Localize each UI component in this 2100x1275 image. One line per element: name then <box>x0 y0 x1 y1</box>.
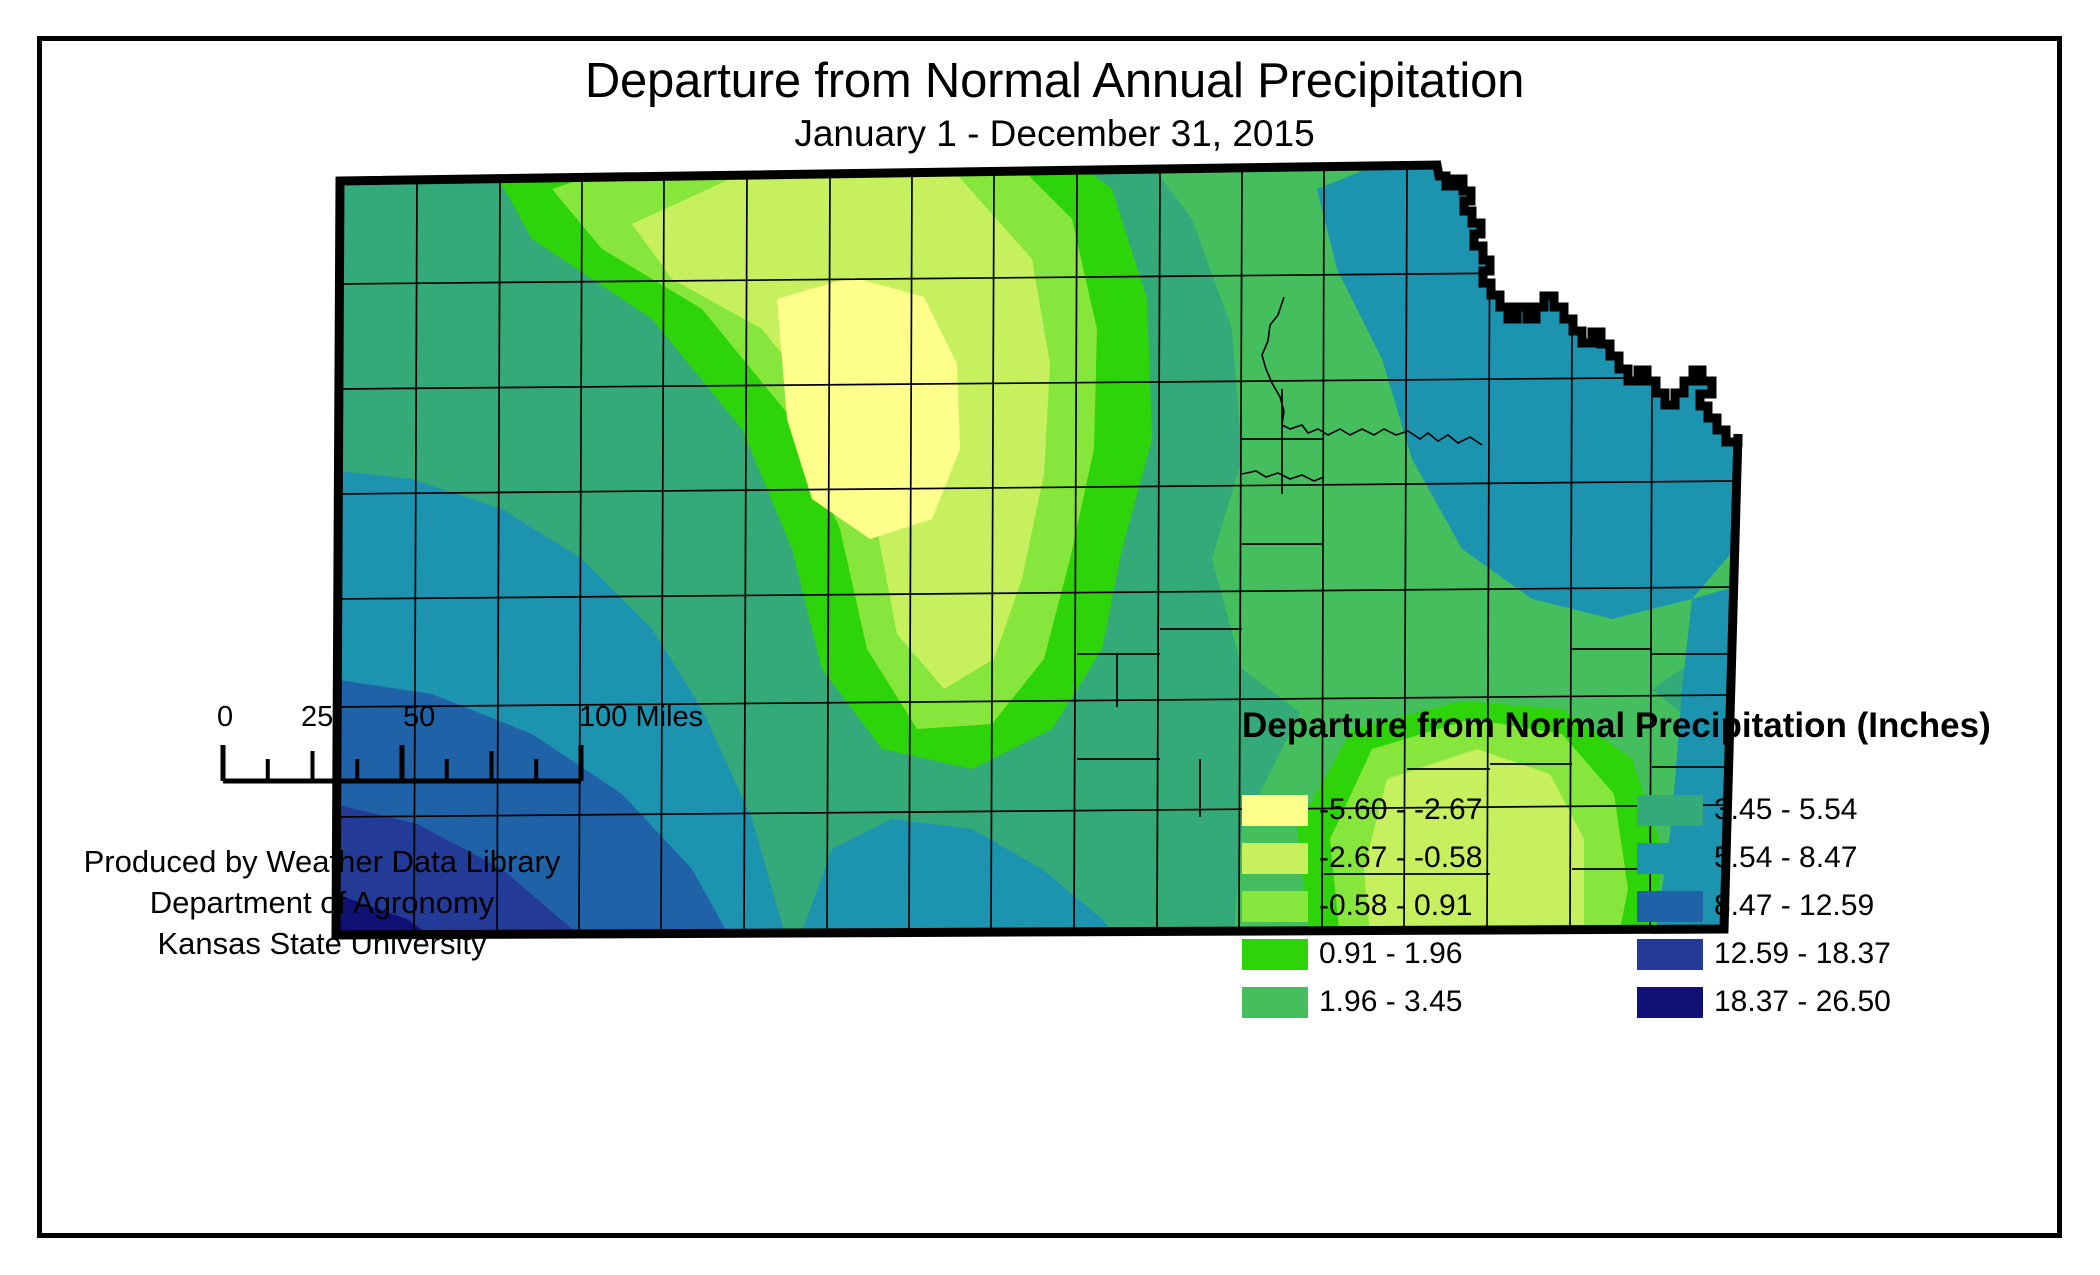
legend-column-right: 3.45 - 5.54 5.54 - 8.47 8.47 - 12.59 12.… <box>1637 786 1891 1026</box>
legend-title: Departure from Normal Precipitation (Inc… <box>1242 706 2042 746</box>
scale-tick-label-0: 0 <box>217 701 233 734</box>
legend-swatch <box>1637 939 1703 970</box>
legend-item[interactable]: 12.59 - 18.37 <box>1637 930 1891 978</box>
legend-label: 1.96 - 3.45 <box>1319 985 1462 1019</box>
legend-swatch <box>1637 795 1703 826</box>
legend-label: 18.37 - 26.50 <box>1714 985 1891 1019</box>
legend-label: -0.58 - 0.91 <box>1319 889 1472 923</box>
scale-tick-label-25: 25 <box>301 701 333 734</box>
map-legend: Departure from Normal Precipitation (Inc… <box>1242 706 2042 1026</box>
legend-swatch <box>1242 939 1308 970</box>
legend-label: -2.67 - -0.58 <box>1319 841 1482 875</box>
page-title: Departure from Normal Annual Precipitati… <box>42 53 2067 109</box>
legend-item[interactable]: 18.37 - 26.50 <box>1637 978 1891 1026</box>
legend-swatch <box>1637 891 1703 922</box>
legend-item[interactable]: -5.60 - -2.67 <box>1242 786 1637 834</box>
legend-label: 5.54 - 8.47 <box>1714 841 1857 875</box>
attribution-line-1: Produced by Weather Data Library <box>42 841 602 882</box>
legend-swatch <box>1637 987 1703 1018</box>
legend-swatch <box>1242 795 1308 826</box>
map-figure-frame: Departure from Normal Annual Precipitati… <box>37 36 2062 1238</box>
attribution-line-2: Department of Agronomy <box>42 882 602 923</box>
scale-tick-label-100: 100 Miles <box>579 701 703 734</box>
legend-label: -5.60 - -2.67 <box>1319 793 1482 827</box>
legend-item[interactable]: 3.45 - 5.54 <box>1637 786 1891 834</box>
legend-swatch <box>1637 843 1703 874</box>
legend-item[interactable]: 0.91 - 1.96 <box>1242 930 1637 978</box>
legend-label: 0.91 - 1.96 <box>1319 937 1462 971</box>
legend-item[interactable]: 5.54 - 8.47 <box>1637 834 1891 882</box>
legend-swatch <box>1242 891 1308 922</box>
legend-column-left: -5.60 - -2.67 -2.67 - -0.58 -0.58 - 0.91… <box>1242 786 1637 1026</box>
legend-swatch <box>1242 843 1308 874</box>
scale-bar: 0 25 50 100 Miles <box>217 701 817 791</box>
legend-label: 3.45 - 5.54 <box>1714 793 1857 827</box>
scale-bar-ruler <box>217 737 817 787</box>
legend-item[interactable]: 1.96 - 3.45 <box>1242 978 1637 1026</box>
attribution-block: Produced by Weather Data Library Departm… <box>42 841 602 965</box>
scale-tick-label-50: 50 <box>403 701 435 734</box>
legend-columns: -5.60 - -2.67 -2.67 - -0.58 -0.58 - 0.91… <box>1242 786 2042 1026</box>
attribution-line-3: Kansas State University <box>42 923 602 964</box>
legend-label: 8.47 - 12.59 <box>1714 889 1874 923</box>
legend-swatch <box>1242 987 1308 1018</box>
legend-item[interactable]: -2.67 - -0.58 <box>1242 834 1637 882</box>
scale-bar-labels: 0 25 50 100 Miles <box>217 701 817 735</box>
legend-item[interactable]: 8.47 - 12.59 <box>1637 882 1891 930</box>
legend-item[interactable]: -0.58 - 0.91 <box>1242 882 1637 930</box>
legend-label: 12.59 - 18.37 <box>1714 937 1891 971</box>
